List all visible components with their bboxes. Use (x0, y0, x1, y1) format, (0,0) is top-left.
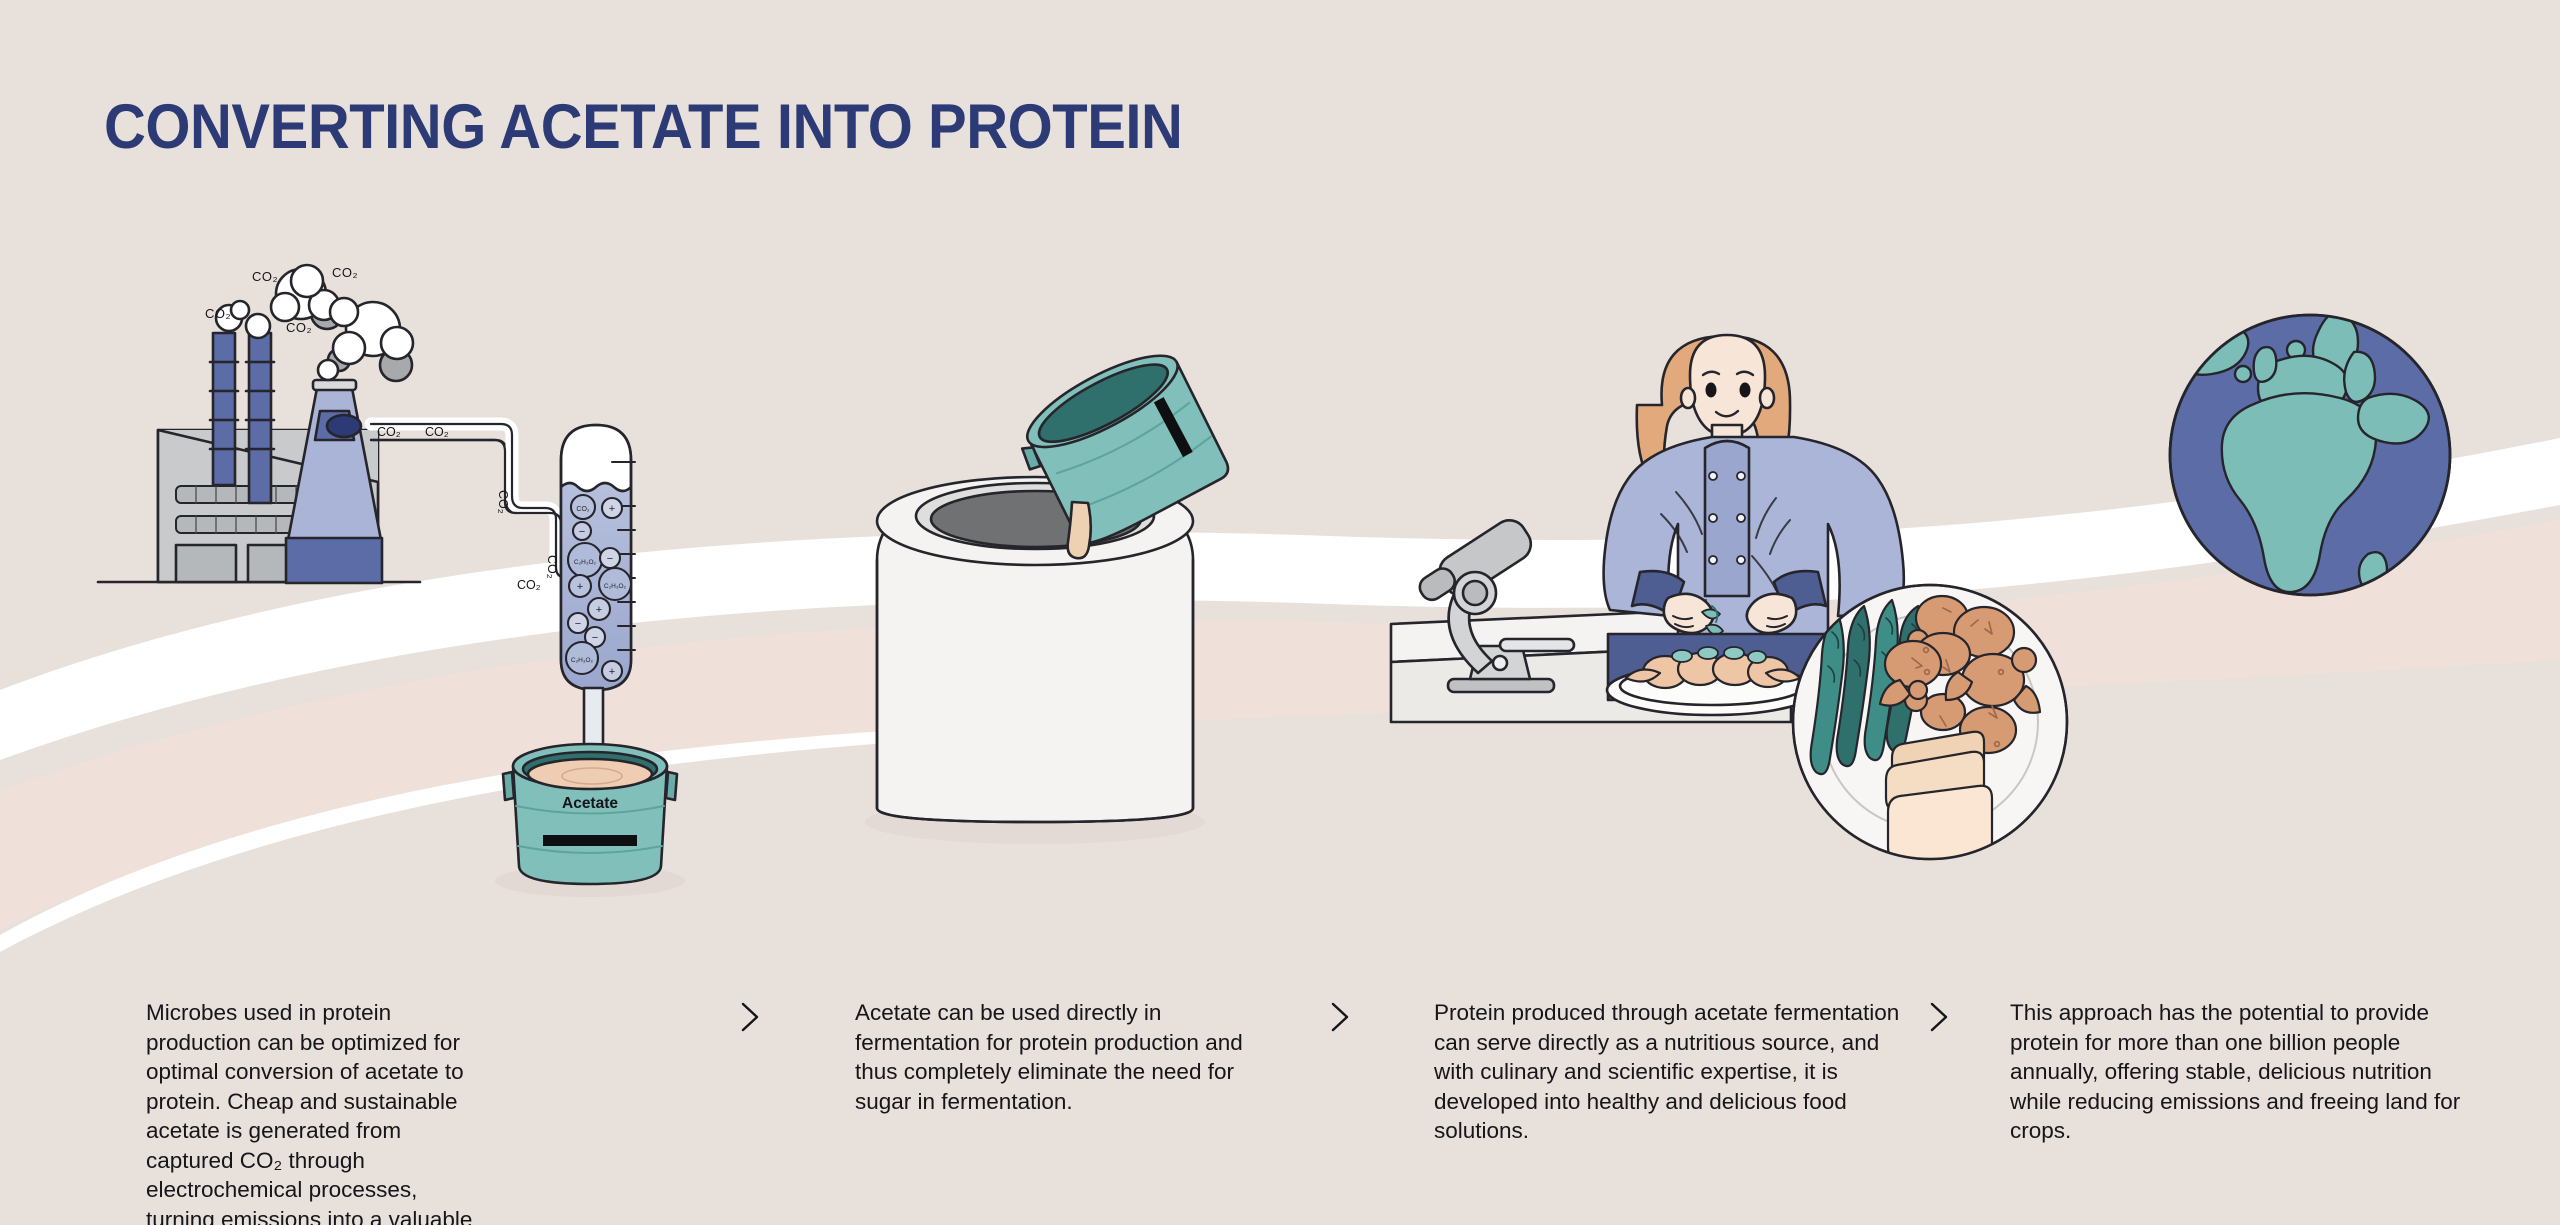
step-caption-2: Acetate can be used directly in fermenta… (855, 998, 1255, 1116)
infographic-canvas: CONVERTING ACETATE INTO PROTEIN (0, 0, 2560, 1225)
chevron-right-icon (1926, 1000, 1952, 1034)
step-caption-row: Microbes used in protein production can … (0, 0, 2560, 1225)
step-caption-4: This approach has the potential to provi… (2010, 998, 2480, 1146)
step-caption-1: Microbes used in protein production can … (146, 998, 486, 1225)
step-caption-text: Microbes used in protein production can … (146, 998, 486, 1225)
step-caption-text: Acetate can be used directly in fermenta… (855, 998, 1255, 1116)
step-caption-text: This approach has the potential to provi… (2010, 998, 2480, 1146)
step-caption-3: Protein produced through acetate ferment… (1434, 998, 1914, 1146)
chevron-right-icon (737, 1000, 763, 1034)
step-caption-text: Protein produced through acetate ferment… (1434, 998, 1914, 1146)
chevron-right-icon (1327, 1000, 1353, 1034)
